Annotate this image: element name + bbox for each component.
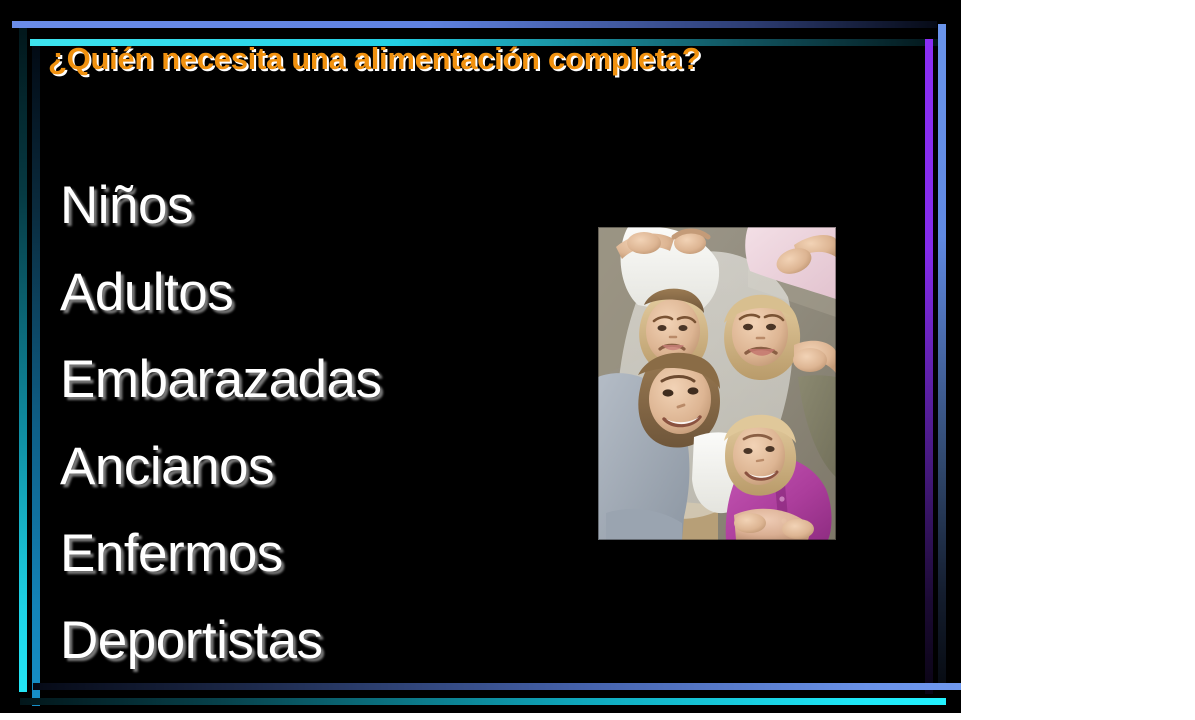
list-item: Ancianos	[60, 423, 580, 510]
border-bar-top-blue	[12, 21, 937, 28]
slide-root: ¿Quién necesita una alimentación complet…	[0, 0, 1195, 720]
list-item: Deportistas	[60, 597, 580, 684]
border-bar-right-blue	[938, 24, 946, 686]
border-bar-right-purple	[925, 39, 933, 694]
list-item: Embarazadas	[60, 336, 580, 423]
list-item: Niños	[60, 162, 580, 249]
slide-surface: ¿Quién necesita una alimentación complet…	[0, 0, 961, 713]
slide-body-list: Niños Adultos Embarazadas Ancianos Enfer…	[60, 162, 580, 684]
slide-title: ¿Quién necesita una alimentación complet…	[48, 40, 748, 79]
border-bar-bottom-blue	[33, 683, 961, 690]
border-bar-left-cyan	[19, 28, 27, 692]
list-item: Adultos	[60, 249, 580, 336]
family-photo	[598, 227, 836, 540]
border-bar-bottom-cyan	[20, 698, 946, 705]
list-item: Enfermos	[60, 510, 580, 597]
border-bar-left-blue	[32, 46, 40, 706]
